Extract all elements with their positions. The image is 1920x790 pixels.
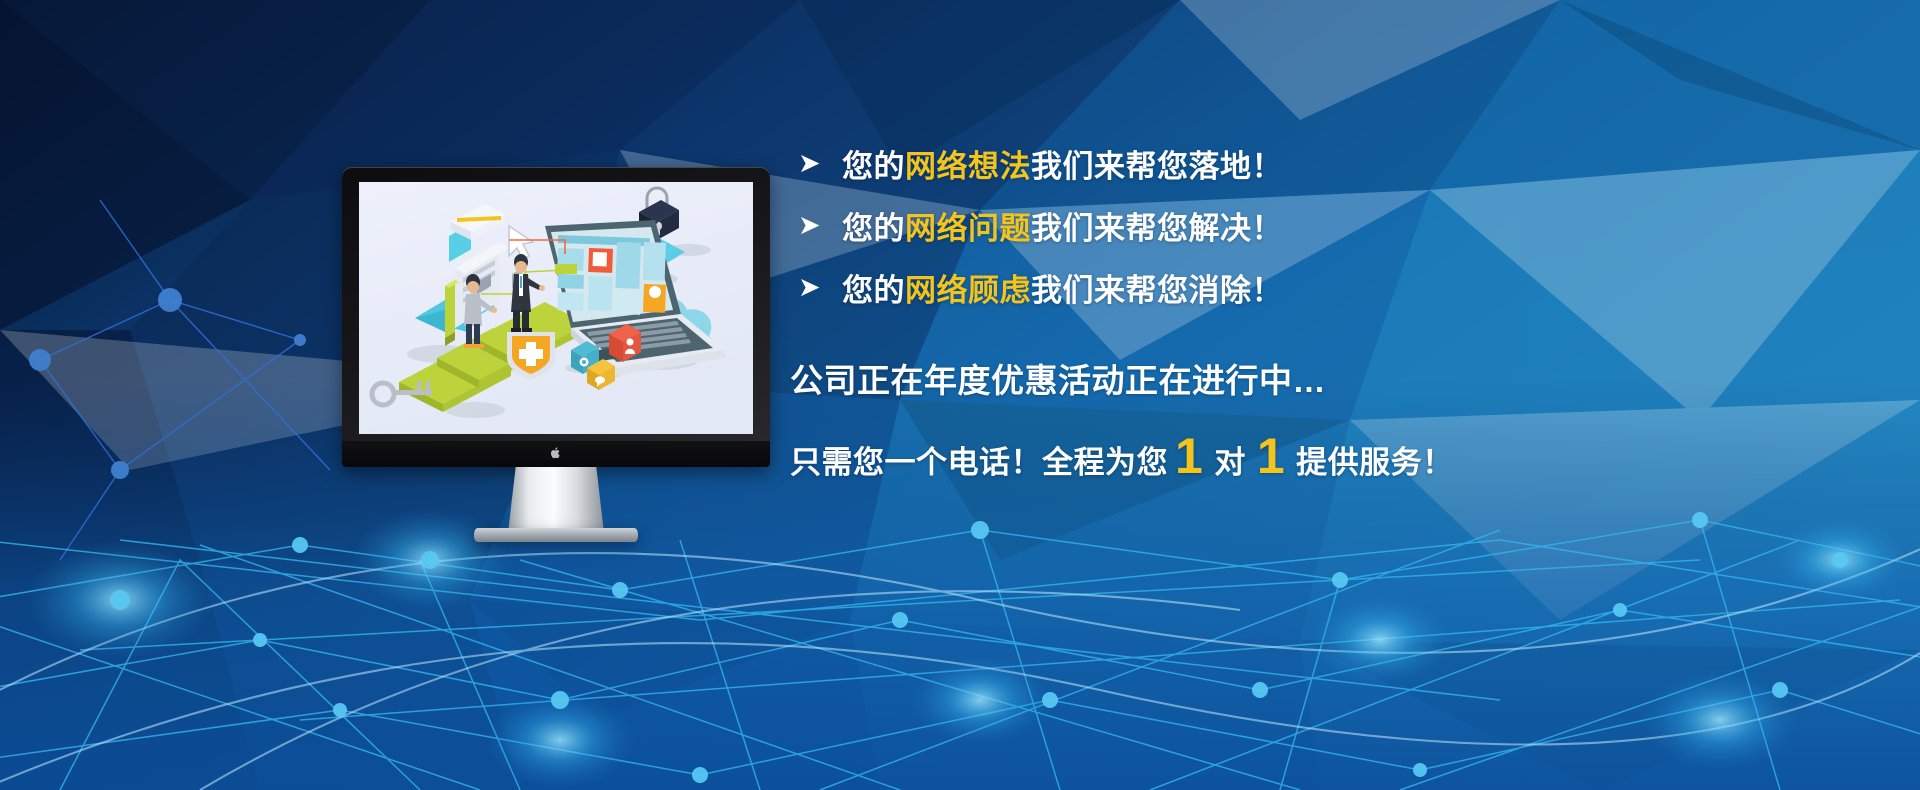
arrow-right-triangle-icon: ➤	[790, 274, 842, 301]
service-line-part2: 提供服务！	[1292, 437, 1458, 482]
bullet-lead-1: 您的	[842, 149, 905, 184]
apple-logo-icon	[551, 447, 562, 459]
bullet-item-1: ➤ 您的网络想法我们来帮您落地！	[790, 132, 1690, 194]
arrow-right-triangle-icon: ➤	[790, 212, 842, 239]
bullet-highlight-2: 网络问题	[905, 211, 1031, 246]
bullet-text-2: 您的网络问题我们来帮您解决！	[842, 203, 1283, 248]
bullet-tail-1: 我们来帮您落地！	[1031, 149, 1283, 184]
monitor-stand-base	[474, 528, 638, 542]
bullet-tail-3: 我们来帮您消除！	[1031, 273, 1283, 308]
service-line-part1: 只需您一个电话！全程为您	[790, 437, 1168, 482]
service-number-second: 1	[1250, 434, 1292, 479]
bullet-text-1: 您的网络想法我们来帮您落地！	[842, 141, 1283, 186]
bullet-text-3: 您的网络顾虑我们来帮您消除！	[842, 265, 1283, 310]
copy-block: ➤ 您的网络想法我们来帮您落地！ ➤ 您的网络问题我们来帮您解决！ ➤ 您的网络…	[790, 132, 1690, 482]
monitor-chin	[342, 441, 770, 467]
service-number-first: 1	[1168, 434, 1210, 479]
bullet-tail-2: 我们来帮您解决！	[1031, 211, 1283, 246]
campaign-line: 公司正在年度优惠活动正在进行中…	[790, 354, 1690, 402]
monitor-stand-neck	[508, 467, 604, 533]
isometric-security-scene	[359, 182, 753, 434]
monitor-screen	[359, 182, 753, 434]
bullet-lead-2: 您的	[842, 211, 905, 246]
service-line-middle: 对	[1210, 437, 1250, 482]
bullet-item-2: ➤ 您的网络问题我们来帮您解决！	[790, 194, 1690, 256]
promo-banner: ➤ 您的网络想法我们来帮您落地！ ➤ 您的网络问题我们来帮您解决！ ➤ 您的网络…	[0, 0, 1920, 790]
apple-monitor-illustration	[342, 167, 770, 467]
bullet-highlight-3: 网络顾虑	[905, 273, 1031, 308]
service-line: 只需您一个电话！全程为您 1 对 1 提供服务！	[790, 434, 1690, 482]
bullet-highlight-1: 网络想法	[905, 149, 1031, 184]
bullet-item-3: ➤ 您的网络顾虑我们来帮您消除！	[790, 256, 1690, 318]
arrow-right-triangle-icon: ➤	[790, 150, 842, 177]
bullet-lead-3: 您的	[842, 273, 905, 308]
